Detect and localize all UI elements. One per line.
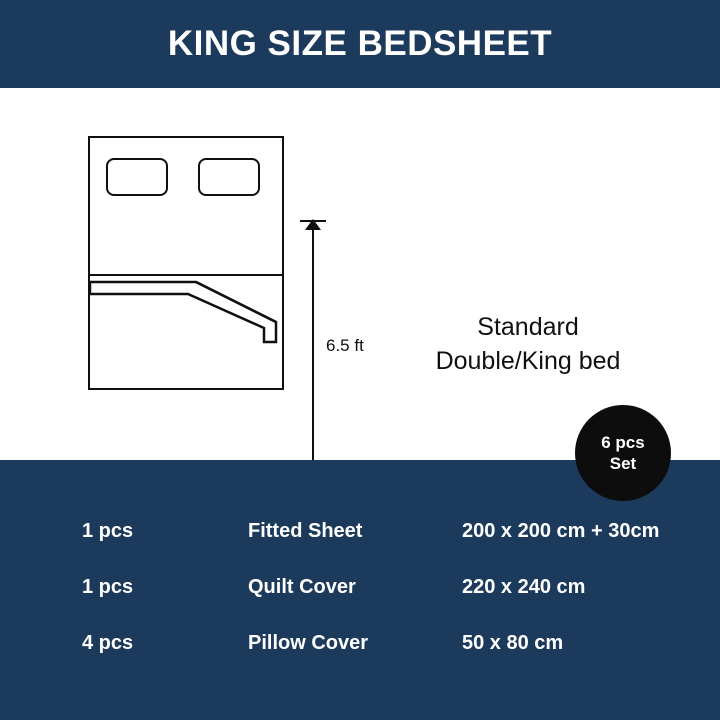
badge-line-1: 6 pcs [601,432,644,453]
spec-item-name: Pillow Cover [248,632,448,655]
infographic-root: KING SIZE BEDSHEET 6.5 ft 6 ft Standard … [0,0,720,720]
table-row: 1 pcs Quilt Cover 220 x 240 cm [0,560,720,614]
table-row: 1 pcs Fitted Sheet 200 x 200 cm + 30cm [0,504,720,558]
spec-size: 220 x 240 cm [462,576,712,599]
bed-type-caption: Standard Double/King bed [398,310,658,378]
pillow-left-icon [106,158,168,196]
bed-caption-line-1: Standard [398,310,658,344]
height-dimension-label: 6.5 ft [326,336,364,356]
badge-line-2: Set [610,453,636,474]
header-banner: KING SIZE BEDSHEET [0,0,720,88]
spec-quantity: 1 pcs [82,520,212,543]
table-row: 4 pcs Pillow Cover 50 x 80 cm [0,616,720,670]
height-dimension-arrow [312,220,314,480]
spec-size: 50 x 80 cm [462,632,712,655]
pillow-right-icon [198,158,260,196]
bed-illustration [88,136,288,394]
page-title: KING SIZE BEDSHEET [168,24,552,64]
blanket-fold-icon [88,256,318,346]
spec-quantity: 1 pcs [82,576,212,599]
bed-diagram-panel: 6.5 ft 6 ft Standard Double/King bed [0,88,720,460]
spec-item-name: Fitted Sheet [248,520,448,543]
bed-caption-line-2: Double/King bed [398,344,658,378]
spec-size: 200 x 200 cm + 30cm [462,520,712,543]
set-count-badge: 6 pcs Set [575,405,671,501]
spec-quantity: 4 pcs [82,632,212,655]
spec-item-name: Quilt Cover [248,576,448,599]
